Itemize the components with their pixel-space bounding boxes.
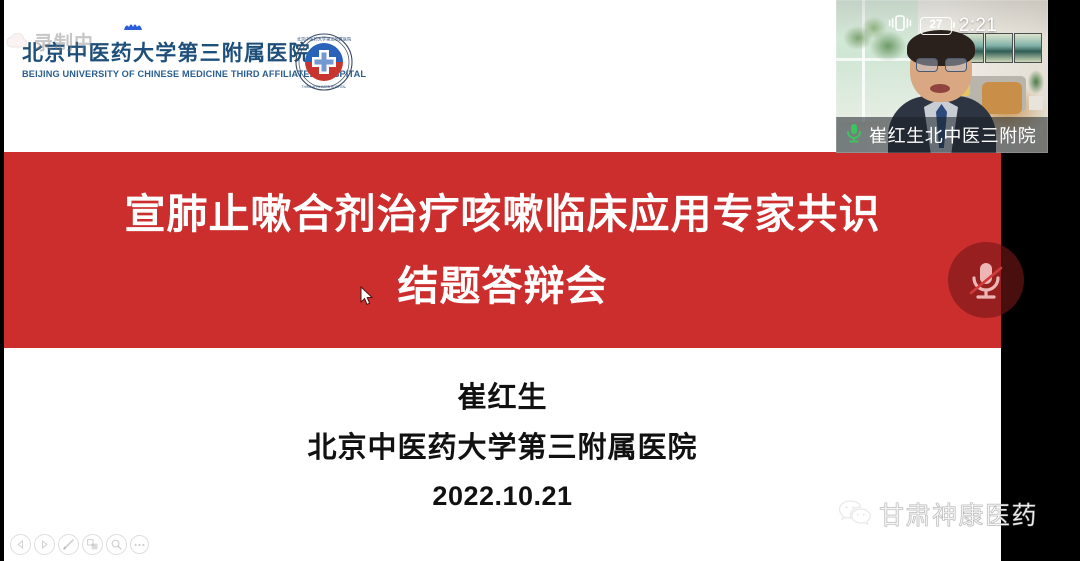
battery-level: 27: [930, 20, 943, 32]
participant-nameplate: 崔红生北中医三附院: [836, 117, 1048, 153]
mic-active-icon: [846, 122, 862, 149]
mic-muted-icon: [965, 257, 1007, 303]
pen-annotation-button[interactable]: [58, 534, 79, 555]
slide-title-line-2: 结题答辩会: [398, 250, 608, 322]
phone-status-bar: 27 2:21: [836, 14, 1048, 37]
zoom-button[interactable]: [106, 534, 127, 555]
slide-player-toolbar[interactable]: [10, 534, 149, 555]
recording-label: 录制中: [34, 28, 94, 55]
hospital-name-en: BEIJING UNIVERSITY OF CHINESE MEDICINE T…: [22, 69, 312, 79]
mouse-cursor: [360, 286, 374, 306]
next-slide-button[interactable]: [34, 534, 55, 555]
cloud-icon: [4, 33, 30, 51]
watermark-text: 甘肃神康医药: [879, 496, 1038, 532]
slide-title-banner: 宣肺止嗽合剂治疗咳嗽临床应用专家共识 结题答辩会: [4, 152, 1001, 348]
phone-clock: 2:21: [959, 15, 997, 37]
decorative-blue-mark: [122, 19, 144, 29]
hospital-emblem-icon: 北京中医药大学第三附属医院 THIRD AFFILIATED HOSPITAL: [292, 32, 356, 92]
previous-slide-button[interactable]: [10, 534, 31, 555]
participant-name: 崔红生北中医三附院: [869, 122, 1036, 148]
mic-mute-button[interactable]: [948, 242, 1024, 318]
svg-text:THIRD AFFILIATED HOSPITAL: THIRD AFFILIATED HOSPITAL: [302, 85, 347, 89]
presenter-organization: 北京中医药大学第三附属医院: [4, 422, 1001, 472]
vibrate-icon: [887, 14, 913, 37]
slide-title-line-1: 宣肺止嗽合剂治疗咳嗽临床应用专家共识: [125, 178, 881, 250]
more-options-button[interactable]: [130, 535, 149, 554]
svg-text:北京中医药大学第三附属医院: 北京中医药大学第三附属医院: [297, 36, 352, 43]
meeting-screen: 北京中医药大学第三附属医院 BEIJING UNIVERSITY OF CHIN…: [0, 0, 1080, 561]
wechat-icon: [838, 498, 872, 531]
slide-grid-button[interactable]: [82, 534, 103, 555]
recording-indicator: 录制中: [4, 28, 94, 55]
presenter-name: 崔红生: [4, 372, 1001, 422]
participant-video-tile[interactable]: 27 2:21 崔红生北中医三附院: [836, 0, 1048, 153]
wechat-watermark: 甘肃神康医药: [838, 496, 1038, 532]
battery-icon: 27: [920, 17, 952, 35]
letterbox-left: [0, 0, 4, 561]
